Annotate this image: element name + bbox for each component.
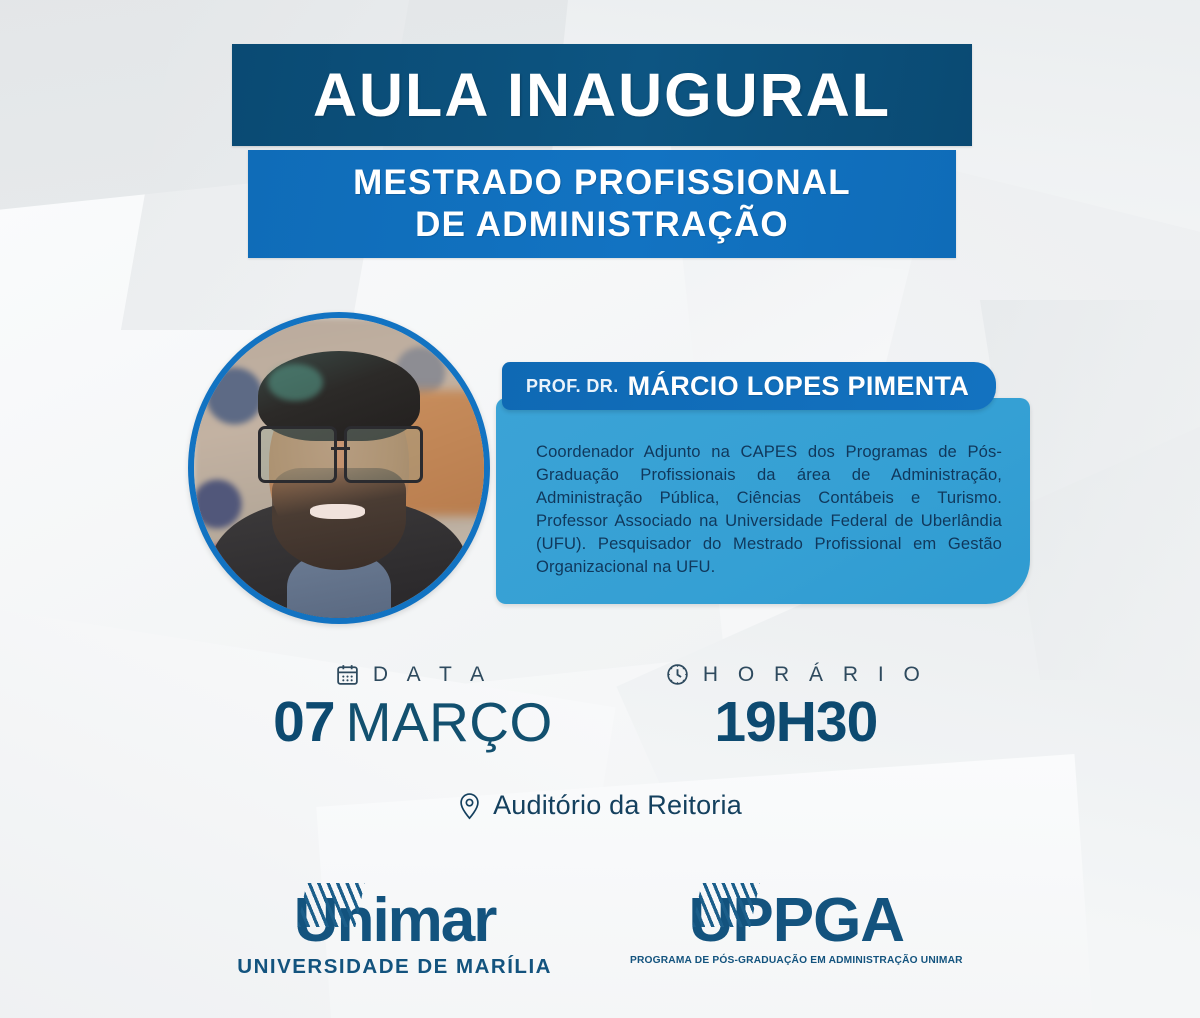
unimar-u-mark: U	[294, 890, 337, 952]
map-pin-icon	[458, 792, 481, 820]
page-title: AULA INAUGURAL	[313, 60, 891, 130]
uppga-logo-word: PPGA	[732, 890, 904, 952]
speaker-photo	[188, 312, 490, 624]
uppga-logo-u: U	[689, 886, 733, 955]
date-label: D A T A	[373, 663, 491, 687]
speaker-bio-card: Coordenador Adjunto na CAPES dos Program…	[496, 398, 1030, 604]
header-title-bar: AULA INAUGURAL	[232, 44, 972, 146]
speaker-name-banner: PROF. DR. MÁRCIO LOPES PIMENTA	[502, 362, 996, 410]
subtitle-line-2: DE ADMINISTRAÇÃO	[415, 205, 789, 245]
unimar-logo: U nimar UNIVERSIDADE DE MARÍLIA	[237, 890, 552, 979]
location-row: Auditório da Reitoria	[0, 790, 1200, 821]
location-text: Auditório da Reitoria	[493, 790, 742, 821]
speaker-title-prefix: PROF. DR.	[526, 376, 619, 397]
logo-row: U nimar UNIVERSIDADE DE MARÍLIA U PPGA P…	[0, 890, 1200, 979]
date-block: D A T A 07 MARÇO	[273, 662, 553, 755]
date-month: MARÇO	[346, 690, 553, 754]
unimar-logo-word: nimar	[337, 890, 496, 952]
unimar-tagline: UNIVERSIDADE DE MARÍLIA	[237, 955, 552, 979]
speaker-name: MÁRCIO LOPES PIMENTA	[628, 371, 970, 402]
photo-beard	[272, 468, 405, 570]
event-details-row: D A T A 07 MARÇO H O R Á R I O 19H30	[0, 662, 1200, 755]
subtitle-line-1: MESTRADO PROFISSIONAL	[353, 163, 851, 203]
date-day: 07	[273, 689, 334, 755]
speaker-bio-text: Coordenador Adjunto na CAPES dos Program…	[536, 440, 1002, 578]
clock-icon	[665, 662, 690, 687]
photo-smile	[310, 504, 365, 519]
uppga-u-mark: U	[689, 890, 733, 952]
uppga-logo: U PPGA PROGRAMA DE PÓS-GRADUAÇÃO EM ADMI…	[630, 890, 963, 966]
uppga-tagline: PROGRAMA DE PÓS-GRADUAÇÃO EM ADMINISTRAÇ…	[630, 955, 963, 966]
time-block: H O R Á R I O 19H30	[665, 662, 927, 755]
photo-glasses	[258, 426, 423, 477]
header-subtitle-bar: MESTRADO PROFISSIONAL DE ADMINISTRAÇÃO	[248, 150, 956, 258]
time-label: H O R Á R I O	[703, 663, 927, 687]
event-poster: AULA INAUGURAL MESTRADO PROFISSIONAL DE …	[0, 0, 1200, 1018]
time-value: 19H30	[714, 689, 877, 755]
poster-header: AULA INAUGURAL MESTRADO PROFISSIONAL DE …	[232, 44, 972, 258]
unimar-logo-u: U	[294, 886, 337, 955]
calendar-icon	[335, 662, 360, 687]
